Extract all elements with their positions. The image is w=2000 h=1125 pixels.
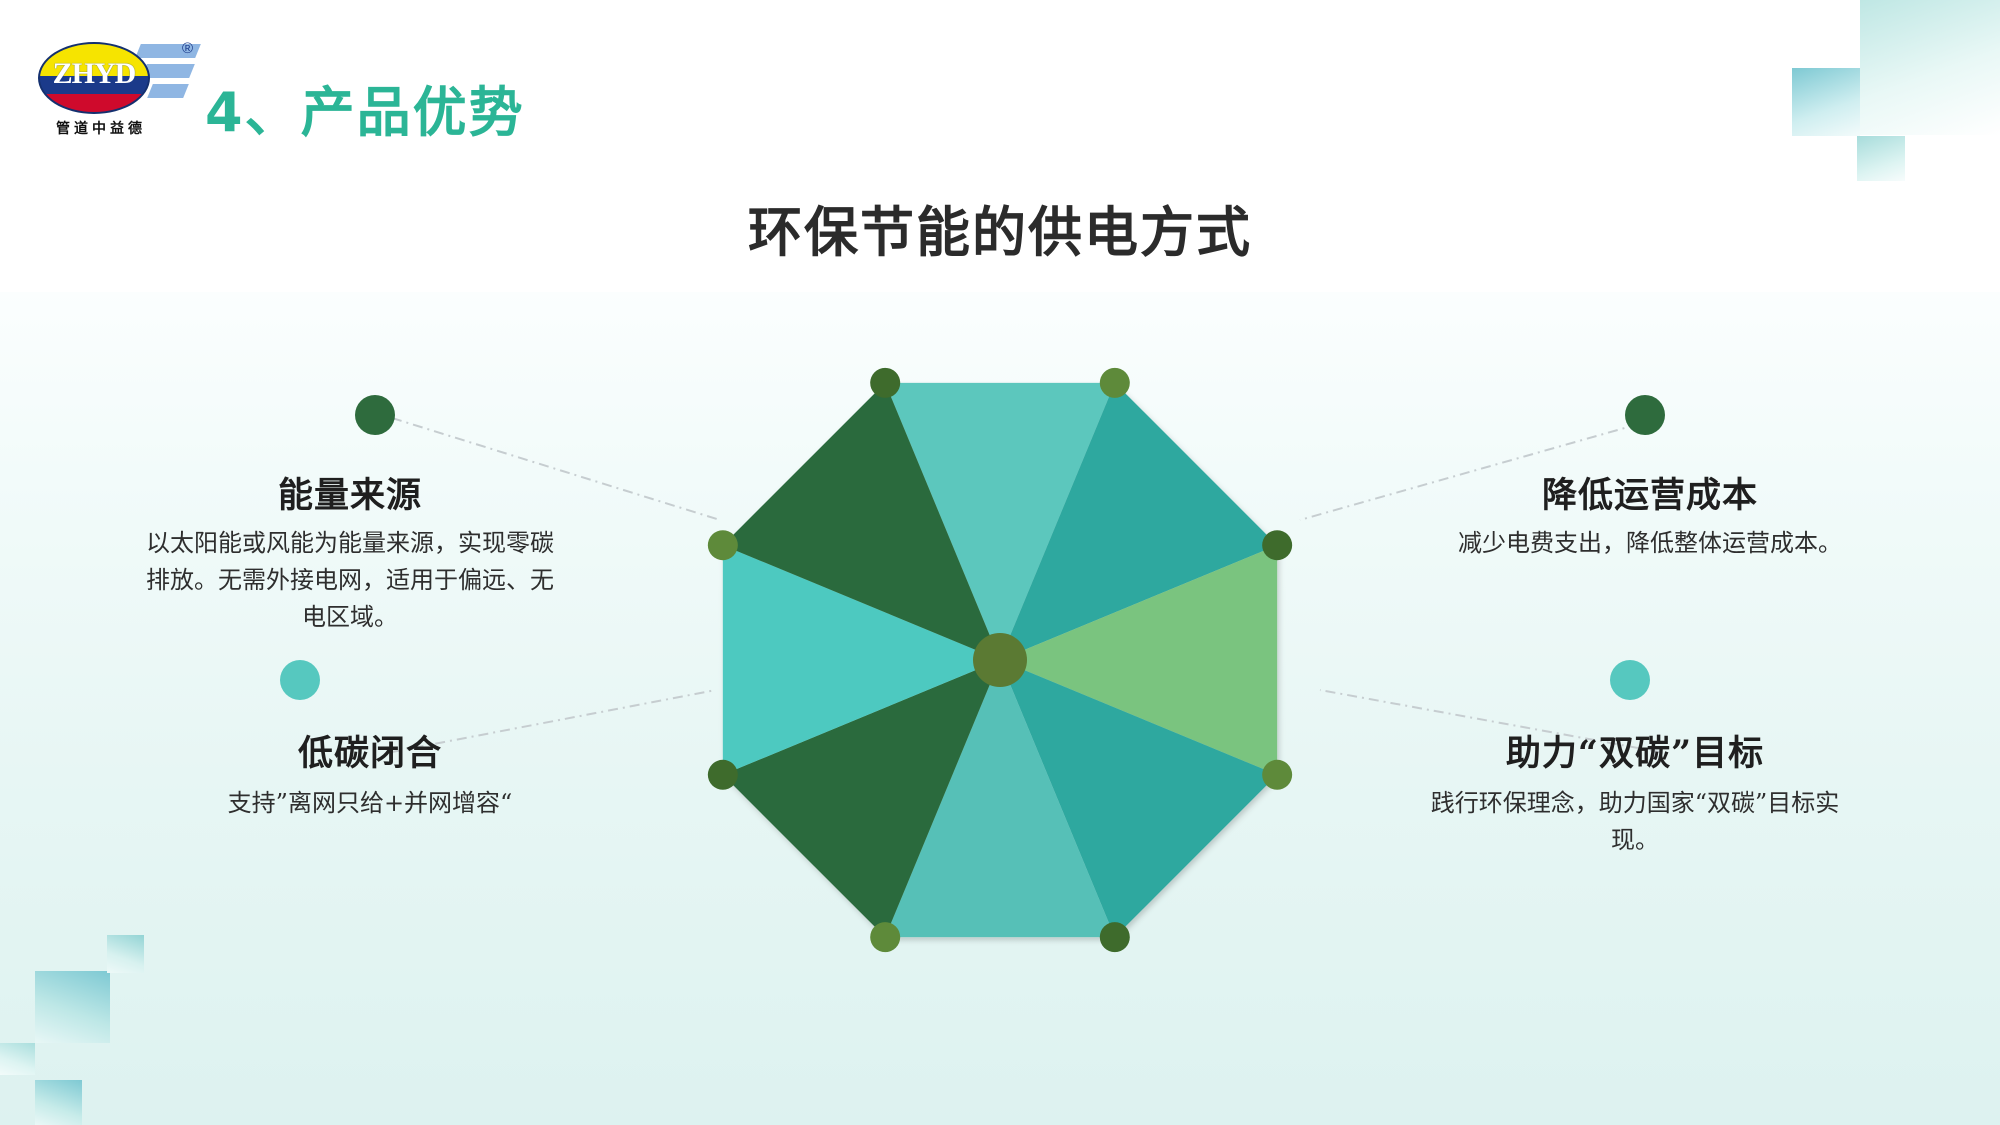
callout-dot-energy-source[interactable] — [355, 395, 395, 435]
umbrella-vertex-knob — [1262, 760, 1292, 790]
umbrella-vertex-knob — [870, 368, 900, 398]
decor-square-tr-small — [1857, 136, 1905, 181]
umbrella-vertex-knob — [870, 922, 900, 952]
decor-square-bl-edge — [0, 1043, 35, 1075]
callout-dot-reduce-operating-cost[interactable] — [1625, 395, 1665, 435]
callout-body-dual-carbon-goal: 践行环保理念，助力国家“双碳”目标实现。 — [1425, 785, 1845, 859]
callout-title-energy-source: 能量来源 — [140, 467, 560, 518]
callout-body-low-carbon-closed-loop: 支持”离网只给+并网增容“ — [160, 785, 580, 822]
decor-square-tr-mid — [1792, 68, 1860, 136]
decor-square-bl-top — [107, 935, 144, 973]
callout-title-low-carbon-closed-loop: 低碳闭合 — [160, 725, 580, 776]
umbrella-hub — [973, 633, 1027, 687]
registered-trademark-icon: ® — [182, 40, 193, 57]
umbrella-vertex-knob — [1100, 922, 1130, 952]
callout-body-reduce-operating-cost: 减少电费支出，降低整体运营成本。 — [1440, 525, 1860, 562]
company-logo: ZHYD ® 管道中益德 — [38, 38, 198, 138]
decor-square-bl-large — [35, 971, 110, 1043]
callout-dot-dual-carbon-goal[interactable] — [1610, 660, 1650, 700]
decor-square-bl-bottom — [35, 1080, 82, 1125]
logo-wordmark: ZHYD — [38, 38, 150, 110]
umbrella-diagram — [640, 300, 1360, 1020]
umbrella-vertex-knob — [708, 530, 738, 560]
callout-title-dual-carbon-goal: 助力“双碳”目标 — [1425, 725, 1845, 776]
callout-dot-low-carbon-closed-loop[interactable] — [280, 660, 320, 700]
umbrella-vertex-knob — [708, 760, 738, 790]
umbrella-vertex-knob — [1100, 368, 1130, 398]
logo-subtitle: 管道中益德 — [41, 118, 161, 138]
section-heading: 4、产品优势 — [205, 68, 525, 147]
decor-square-tr-large — [1860, 0, 2000, 135]
callout-title-reduce-operating-cost: 降低运营成本 — [1440, 467, 1860, 518]
page-title: 环保节能的供电方式 — [0, 188, 2000, 267]
slide-canvas: ZHYD ® 管道中益德 4、产品优势 环保节能的供电方式 能量来源 以太阳能或… — [0, 0, 2000, 1125]
callout-body-energy-source: 以太阳能或风能为能量来源，实现零碳排放。无需外接电网，适用于偏远、无电区域。 — [140, 525, 560, 637]
umbrella-vertex-knob — [1262, 530, 1292, 560]
